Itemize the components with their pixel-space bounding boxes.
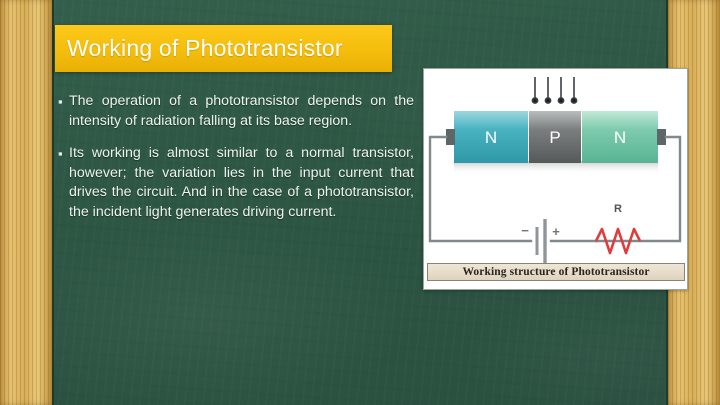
light-rays-icon: [532, 77, 576, 103]
bullet-text: The operation of a phototransistor depen…: [69, 92, 414, 131]
list-item: ▪ Its working is almost similar to a nor…: [58, 144, 414, 222]
phototransistor-diagram: N P N − + R: [423, 68, 688, 290]
wooden-frame-left: [0, 0, 52, 405]
presentation-slide: Working of Phototransistor ▪ The operati…: [0, 0, 720, 405]
page-title: Working of Phototransistor: [67, 35, 343, 62]
collector-terminal-tab: [657, 129, 666, 145]
bullet-text: Its working is almost similar to a norma…: [69, 144, 414, 222]
diagram-caption-box: Working structure of Phototransistor: [427, 263, 685, 281]
resistor-label: R: [614, 203, 622, 215]
emitter-terminal-tab: [446, 129, 455, 145]
n-region-right-label: N: [614, 128, 626, 147]
transistor-shadow: [454, 161, 658, 175]
bullet-marker-icon: ▪: [58, 144, 69, 222]
bullet-marker-icon: ▪: [58, 92, 69, 131]
list-item: ▪ The operation of a phototransistor dep…: [58, 92, 414, 131]
n-region-left-label: N: [485, 128, 497, 147]
p-region-base-label: P: [549, 128, 560, 147]
diagram-caption: Working structure of Phototransistor: [462, 266, 649, 278]
battery-negative-label: −: [521, 223, 529, 238]
phototransistor-schematic: N P N − + R: [424, 69, 687, 289]
slide-body: ▪ The operation of a phototransistor dep…: [58, 92, 414, 235]
slide-title-banner: Working of Phototransistor: [55, 25, 392, 72]
resistor-symbol: R: [596, 203, 640, 253]
battery-positive-label: +: [552, 224, 560, 239]
